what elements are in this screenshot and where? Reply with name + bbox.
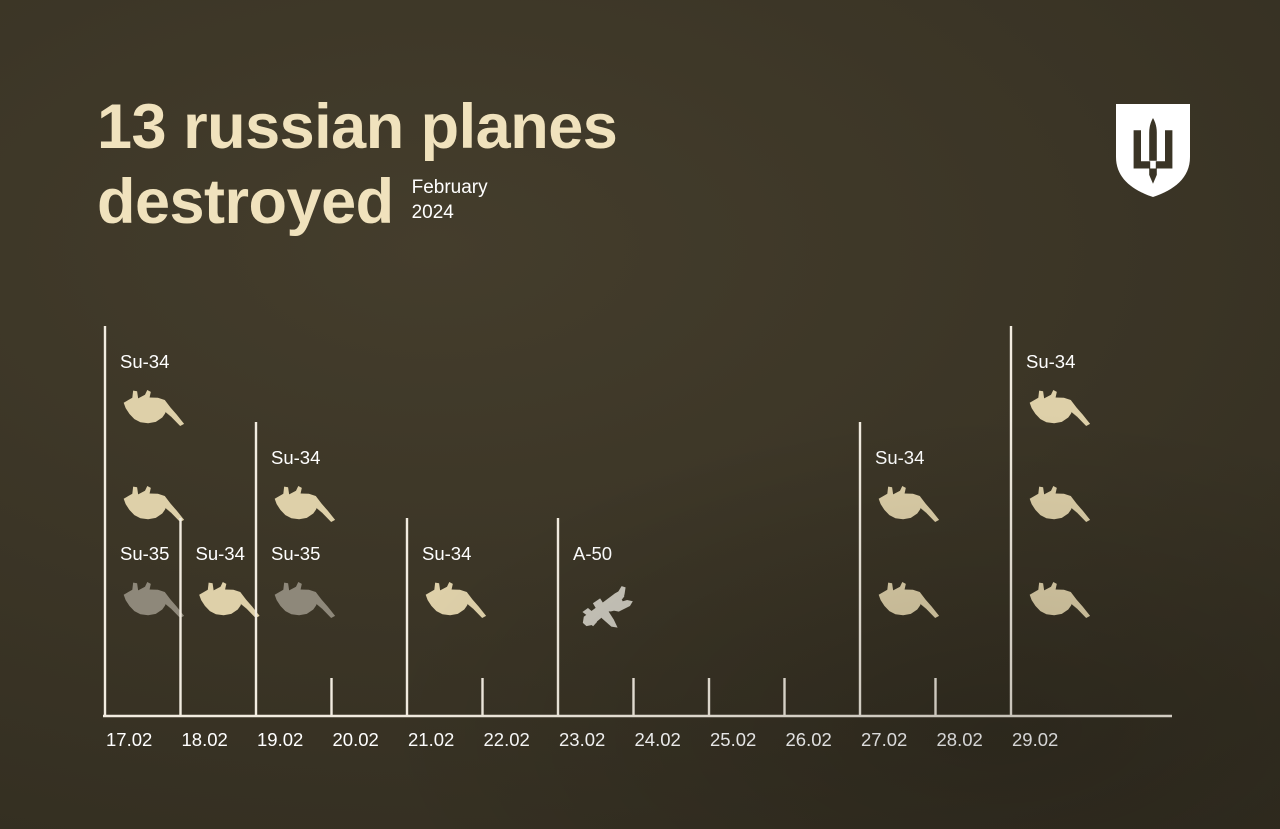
- plane-icon-a-50: [582, 586, 632, 627]
- x-axis-date-label: 18.02: [182, 729, 228, 750]
- x-axis-date-label: 27.02: [861, 729, 907, 750]
- x-axis-date-label: 24.02: [635, 729, 681, 750]
- x-axis-date-label: 23.02: [559, 729, 605, 750]
- x-axis-date-label: 19.02: [257, 729, 303, 750]
- plane-type-label: Su-35: [120, 543, 169, 564]
- title-block: 13 russian planes destroyed February 202…: [97, 96, 617, 234]
- plane-icon-su-34: [1030, 390, 1090, 426]
- plane-icon-su-34: [275, 486, 335, 522]
- x-axis-date-label: 20.02: [333, 729, 379, 750]
- plane-type-label: Su-35: [271, 543, 320, 564]
- x-axis-date-label: 25.02: [710, 729, 756, 750]
- x-axis-date-label: 28.02: [937, 729, 983, 750]
- subtitle-period: February 2024: [412, 175, 488, 234]
- plane-type-label: Su-34: [196, 543, 245, 564]
- plane-type-label: Su-34: [271, 447, 320, 468]
- plane-type-label: Su-34: [120, 351, 169, 372]
- page-title-line-2: destroyed: [97, 171, 394, 234]
- plane-type-label: Su-34: [1026, 351, 1075, 372]
- x-axis-date-label: 21.02: [408, 729, 454, 750]
- x-axis-date-label: 26.02: [786, 729, 832, 750]
- plane-type-label: A-50: [573, 543, 612, 564]
- infographic-poster: 13 russian planes destroyed February 202…: [0, 0, 1280, 829]
- plane-icon-su-34: [1030, 582, 1090, 618]
- plane-type-label: Su-34: [422, 543, 471, 564]
- plane-icon-su-34: [879, 486, 939, 522]
- poster-header: 13 russian planes destroyed February 202…: [97, 96, 1190, 234]
- page-title-line-1: 13 russian planes: [97, 96, 617, 159]
- plane-icon-su-34: [879, 582, 939, 618]
- title-line-2-row: destroyed February 2024: [97, 171, 617, 234]
- plane-type-label: Su-34: [875, 447, 924, 468]
- x-axis-date-label: 29.02: [1012, 729, 1058, 750]
- plane-icon-su-34: [124, 486, 184, 522]
- plane-icon-su-34: [199, 582, 259, 618]
- x-axis-date-label: 17.02: [106, 729, 152, 750]
- subtitle-year: 2024: [412, 202, 454, 223]
- ukraine-tryzub-shield-icon: [1116, 104, 1190, 197]
- plane-icon-su-34: [426, 582, 486, 618]
- plane-icon-su-34: [1030, 486, 1090, 522]
- x-axis-date-label: 22.02: [484, 729, 530, 750]
- plane-icon-su-35: [275, 582, 335, 618]
- plane-icon-su-35: [124, 582, 184, 618]
- plane-icon-su-34: [124, 390, 184, 426]
- subtitle-month: February: [412, 177, 488, 198]
